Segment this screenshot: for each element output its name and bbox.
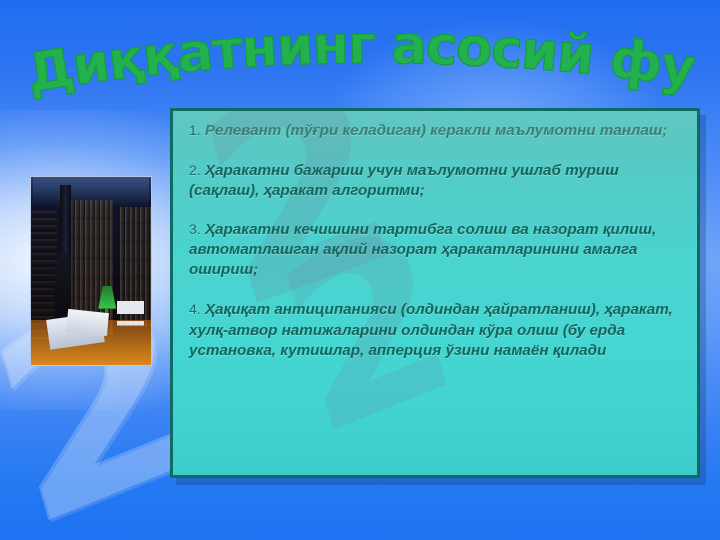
bullet-number: 3. — [189, 221, 201, 237]
list-item: 3. Ҳаракатни кечишини тартибга солиш ва … — [189, 220, 683, 281]
library-photo — [30, 176, 152, 366]
photo-inner — [31, 177, 151, 365]
photo-papers-2 — [66, 308, 109, 335]
bullet-number: 2. — [189, 162, 201, 178]
title-text: Диққатнинг асосий функциялари — [0, 18, 699, 102]
bullet-text: Ҳаракатни кечишини тартибга солиш ва наз… — [189, 221, 656, 278]
bullet-number: 4. — [189, 301, 201, 317]
content-panel: 2 2 1. Релевант (тўғри келадиган) керакл… — [170, 108, 700, 478]
presentation-slide: 2 Диққатнинг асосий функциялари — [0, 0, 720, 540]
bullet-list: 1. Релевант (тўғри келадиган) керакли ма… — [189, 121, 683, 361]
bullet-text: Ҳаракатни бажариш учун маълумотни ушлаб … — [189, 162, 619, 199]
list-item: 1. Релевант (тўғри келадиган) керакли ма… — [189, 121, 683, 141]
bullet-text: Релевант (тўғри келадиган) керакли маълу… — [205, 122, 667, 139]
list-item: 2. Ҳаракатни бажариш учун маълумотни ушл… — [189, 161, 683, 201]
slide-title: Диққатнинг асосий функциялари — [0, 18, 720, 102]
bullet-number: 1. — [189, 122, 201, 138]
title-wordart-svg: Диққатнинг асосий функциялари — [0, 18, 720, 102]
photo-chair — [117, 301, 143, 339]
bullet-text: Ҳақиқат антиципанияси (олдиндан ҳайратла… — [189, 301, 673, 358]
list-item: 4. Ҳақиқат антиципанияси (олдиндан ҳайра… — [189, 300, 683, 361]
